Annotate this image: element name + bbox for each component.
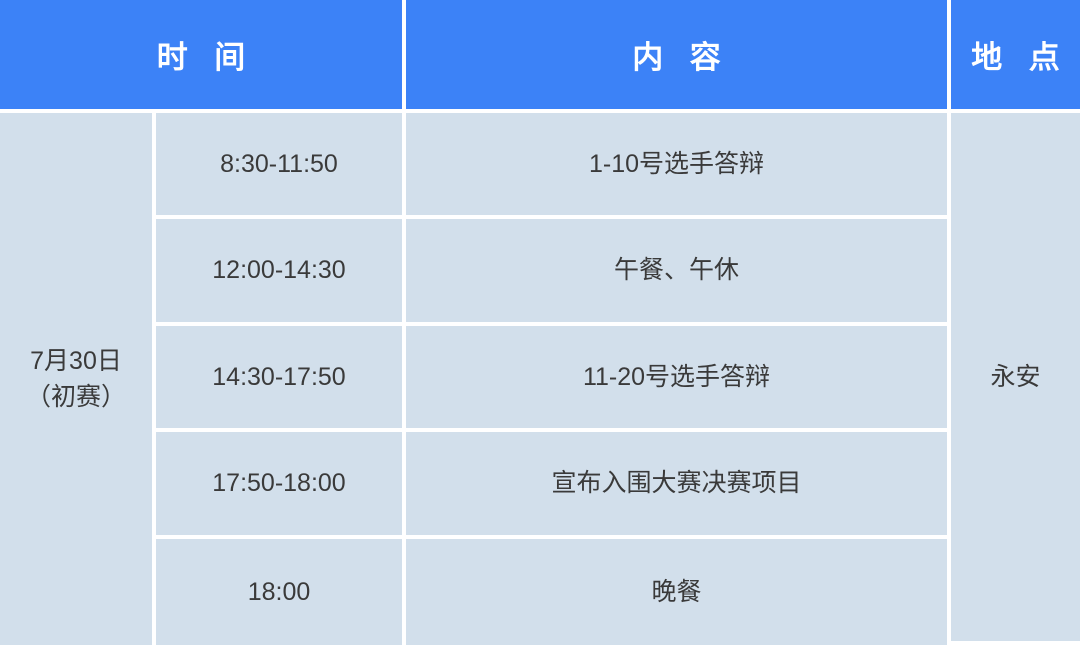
table-body: 7月30日 （初赛） 8:30-11:50 1-10号选手答辩 永安 12:00…: [0, 113, 1080, 645]
table-header-row: 时 间 内 容 地 点: [0, 0, 1080, 113]
cell-date: 7月30日 （初赛）: [0, 113, 156, 645]
date-line-primary: 7月30日: [0, 343, 152, 379]
date-line-secondary: （初赛）: [0, 379, 152, 415]
cell-venue: 永安: [951, 113, 1080, 645]
cell-content: 晚餐: [406, 539, 951, 645]
table-row: 7月30日 （初赛） 8:30-11:50 1-10号选手答辩 永安: [0, 113, 1080, 219]
table-row: 18:00 晚餐: [0, 539, 1080, 645]
cell-time: 8:30-11:50: [156, 113, 406, 219]
table-row: 12:00-14:30 午餐、午休: [0, 219, 1080, 325]
column-header-time: 时 间: [0, 0, 406, 113]
cell-time: 14:30-17:50: [156, 326, 406, 432]
column-header-venue: 地 点: [951, 0, 1080, 113]
table-header: 时 间 内 容 地 点: [0, 0, 1080, 113]
cell-time: 17:50-18:00: [156, 432, 406, 538]
cell-content: 11-20号选手答辩: [406, 326, 951, 432]
cell-content: 午餐、午休: [406, 219, 951, 325]
cell-content: 宣布入围大赛决赛项目: [406, 432, 951, 538]
cell-time: 12:00-14:30: [156, 219, 406, 325]
cell-time: 18:00: [156, 539, 406, 645]
column-header-content: 内 容: [406, 0, 951, 113]
table-row: 14:30-17:50 11-20号选手答辩: [0, 326, 1080, 432]
schedule-table: 时 间 内 容 地 点 7月30日 （初赛） 8:30-11:50 1-10号选…: [0, 0, 1080, 645]
table-row: 17:50-18:00 宣布入围大赛决赛项目: [0, 432, 1080, 538]
cell-content: 1-10号选手答辩: [406, 113, 951, 219]
